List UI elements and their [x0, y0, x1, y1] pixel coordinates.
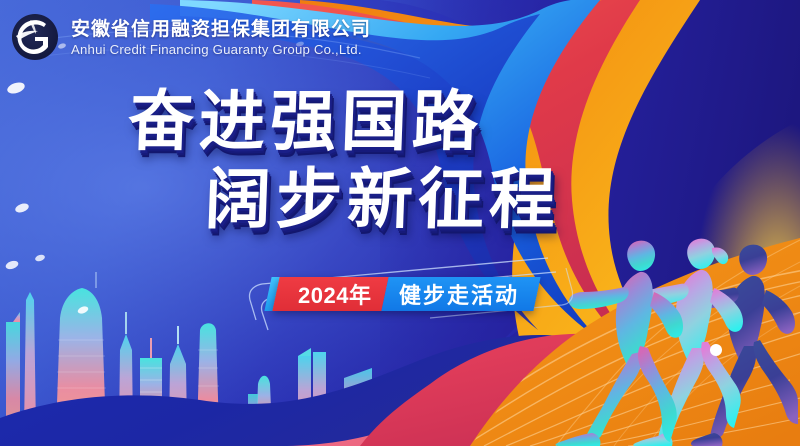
subtitle-year-label: 2024年	[298, 278, 371, 310]
company-name-en: Anhui Credit Financing Guaranty Group Co…	[71, 42, 371, 57]
company-logo	[8, 10, 62, 64]
brand-lockup: 安徽省信用融资担保集团有限公司 Anhui Credit Financing G…	[8, 10, 371, 64]
background-art	[0, 0, 800, 446]
subtitle-bar: 2024年 健步走活动	[272, 277, 541, 311]
subtitle-year-badge: 2024年	[272, 277, 389, 311]
promo-banner: 安徽省信用融资担保集团有限公司 Anhui Credit Financing G…	[0, 0, 800, 446]
light-spark	[710, 344, 722, 356]
company-g-monogram-icon	[8, 10, 62, 64]
subtitle-activity-badge: 健步走活动	[382, 277, 541, 311]
company-name-cn: 安徽省信用融资担保集团有限公司	[71, 19, 371, 40]
brand-text: 安徽省信用融资担保集团有限公司 Anhui Credit Financing G…	[71, 17, 371, 56]
subtitle-activity-label: 健步走活动	[399, 278, 519, 310]
